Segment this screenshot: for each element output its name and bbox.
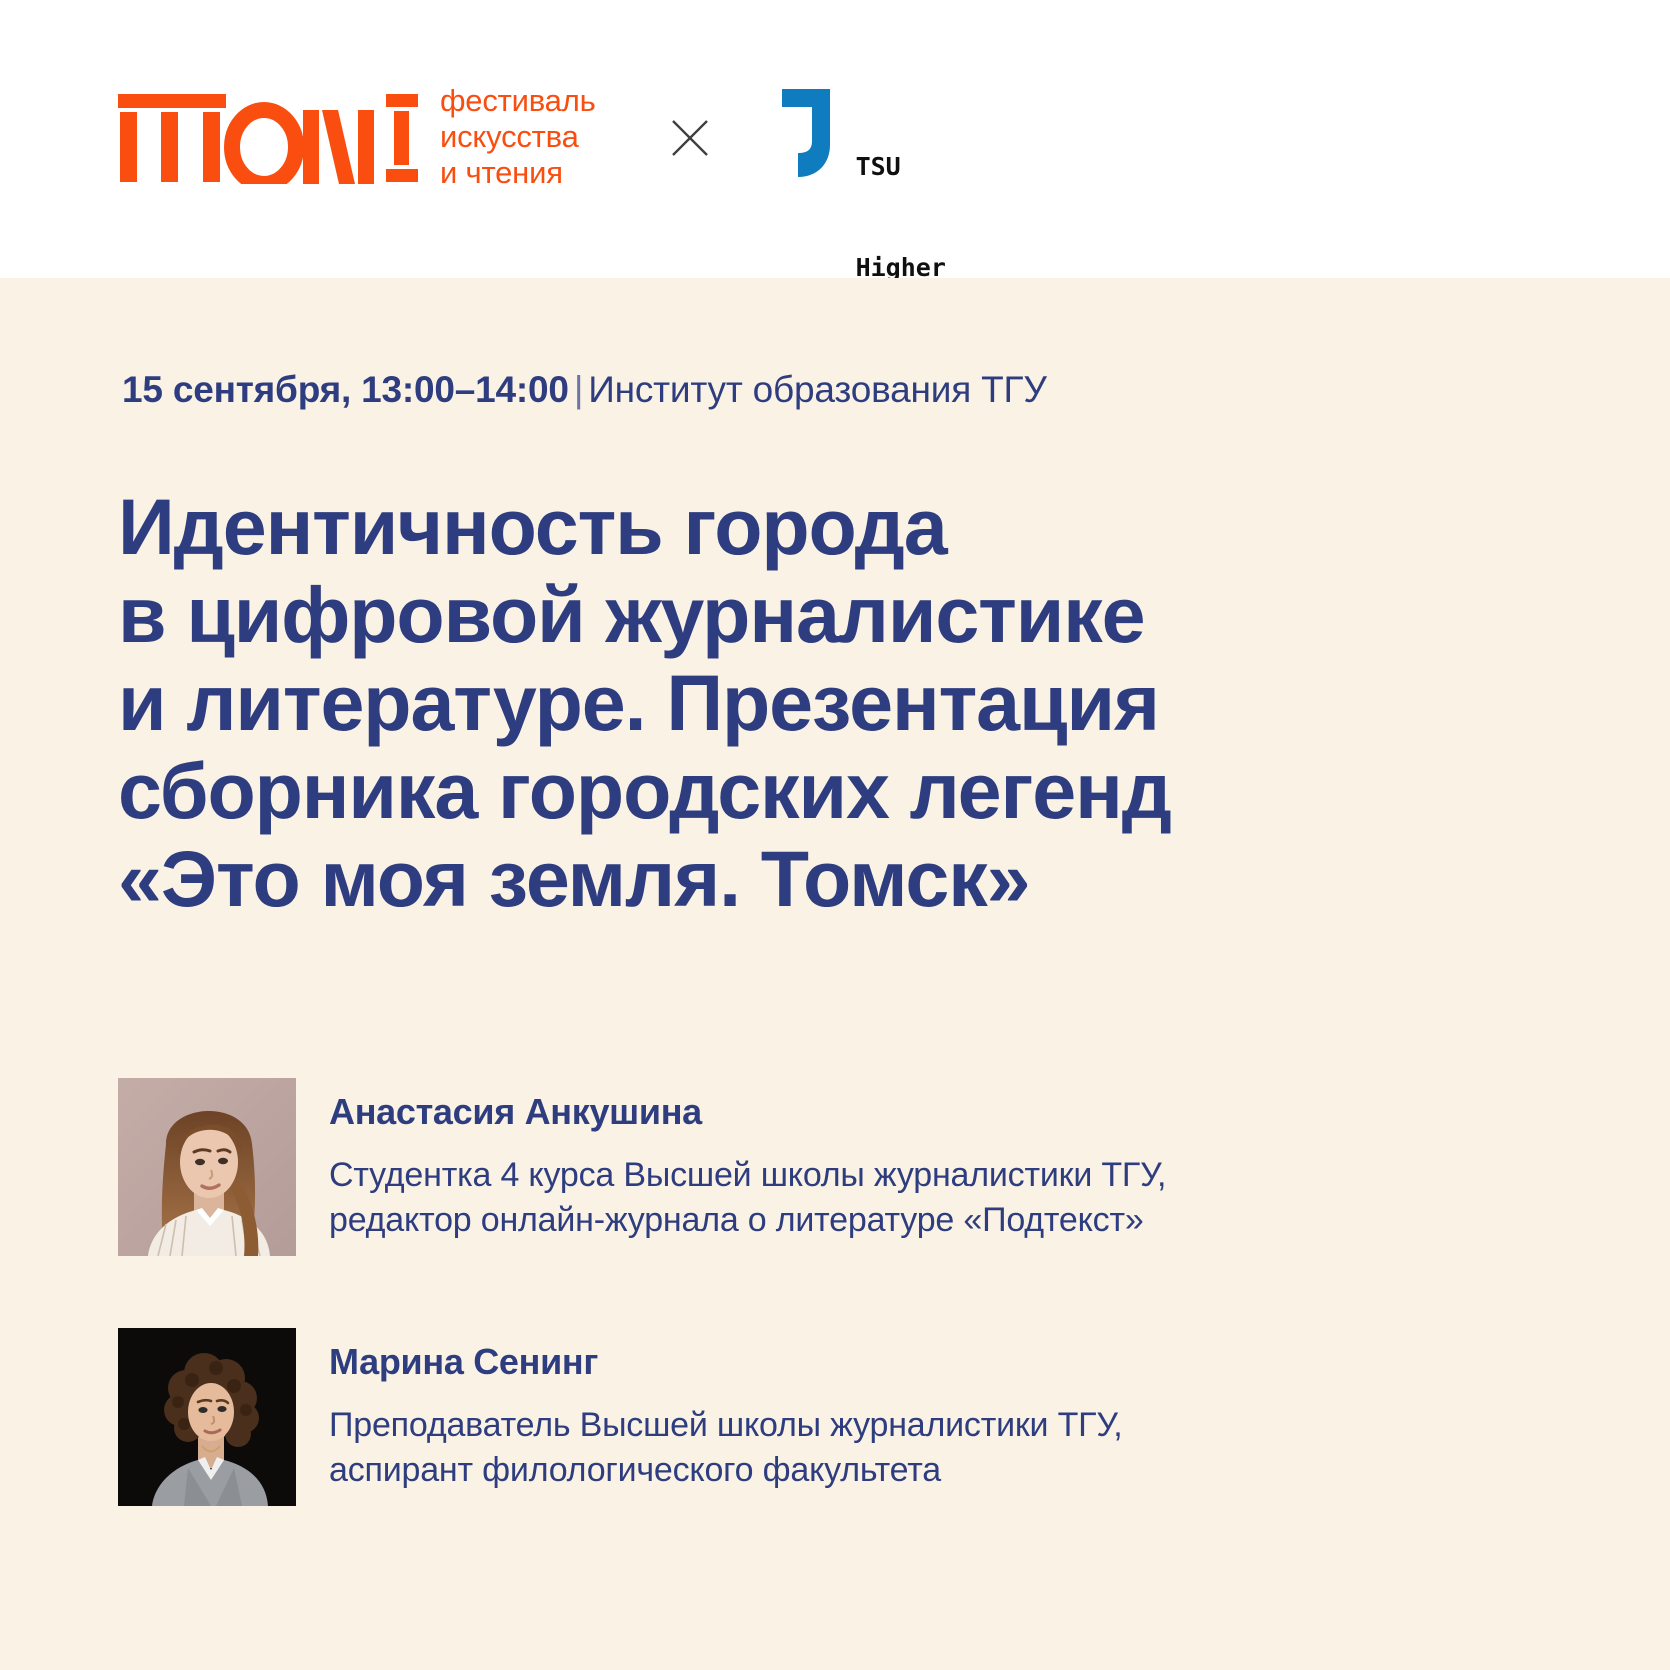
avatar	[118, 1078, 296, 1256]
tom-two-wordmark-icon	[118, 92, 418, 184]
partner-logo: TSU Higher School of Journalism	[778, 83, 1007, 193]
title-line-2: в цифровой журналистике	[118, 571, 1438, 659]
logos-row: фестиваль искусства и чтения	[118, 78, 1006, 198]
title-line-4: сборника городских легенд	[118, 747, 1438, 835]
content-area: 15 сентября, 13:00–14:00|Институт образо…	[0, 278, 1670, 1670]
speaker-bio-line-1: Студентка 4 курса Высшей школы журналист…	[329, 1153, 1166, 1198]
speaker-bio-line-2: редактор онлайн-журнала о литературе «По…	[329, 1198, 1166, 1243]
title-line-5: «Это моя земля. Томск»	[118, 835, 1438, 923]
event-venue: Институт образования ТГУ	[588, 369, 1046, 410]
cross-separator-icon	[668, 116, 712, 160]
partner-logo-line-1: TSU	[856, 150, 1007, 184]
speaker-item: Анастасия Анкушина Студентка 4 курса Выс…	[118, 1078, 1518, 1256]
page-title: Идентичность города в цифровой журналист…	[118, 483, 1438, 923]
festival-caption-line-2: искусства	[440, 119, 596, 155]
festival-logo: фестиваль искусства и чтения	[118, 92, 596, 184]
speaker-bio-line-2: аспирант филологического факультета	[329, 1448, 1123, 1493]
header-band: фестиваль искусства и чтения	[0, 0, 1670, 278]
speakers-list: Анастасия Анкушина Студентка 4 курса Выс…	[118, 1078, 1518, 1578]
festival-caption: фестиваль искусства и чтения	[440, 83, 596, 193]
speaker-info: Марина Сенинг Преподаватель Высшей школы…	[329, 1328, 1123, 1493]
festival-caption-line-3: и чтения	[440, 155, 596, 191]
event-poster: фестиваль искусства и чтения	[0, 0, 1670, 1670]
avatar	[118, 1328, 296, 1506]
speaker-name: Анастасия Анкушина	[329, 1091, 1166, 1133]
event-datetime: 15 сентября, 13:00–14:00	[122, 369, 569, 410]
title-line-3: и литературе. Презентация	[118, 659, 1438, 747]
tsu-j-mark-icon	[778, 89, 834, 177]
speaker-item: Марина Сенинг Преподаватель Высшей школы…	[118, 1328, 1518, 1506]
speaker-bio: Студентка 4 курса Высшей школы журналист…	[329, 1153, 1166, 1243]
speaker-bio: Преподаватель Высшей школы журналистики …	[329, 1403, 1123, 1493]
speaker-bio-line-1: Преподаватель Высшей школы журналистики …	[329, 1403, 1123, 1448]
festival-caption-line-1: фестиваль	[440, 83, 596, 119]
speaker-info: Анастасия Анкушина Студентка 4 курса Выс…	[329, 1078, 1166, 1243]
event-meta: 15 сентября, 13:00–14:00|Институт образо…	[122, 369, 1047, 411]
title-line-1: Идентичность города	[118, 483, 1438, 571]
meta-separator: |	[569, 369, 588, 410]
speaker-name: Марина Сенинг	[329, 1341, 1123, 1383]
